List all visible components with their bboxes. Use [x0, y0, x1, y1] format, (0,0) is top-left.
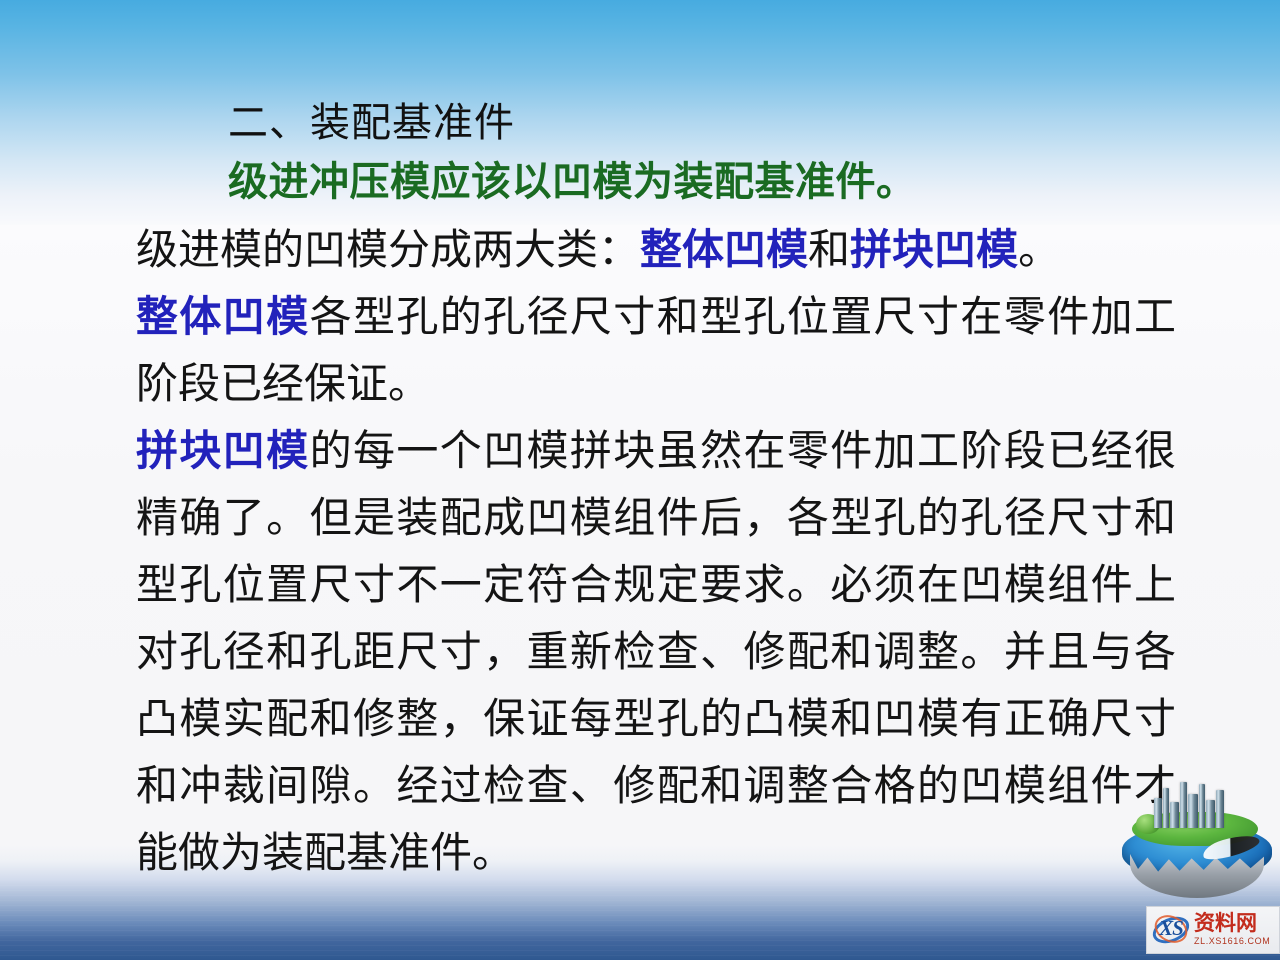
subtitle-statement: 级进冲压模应该以凹模为装配基准件。 [228, 158, 917, 206]
paragraph-sectional-die: 拼块凹模的每一个凹模拼块虽然在零件加工阶段已经很精确了。但是装配成凹模组件后，各… [136, 419, 1176, 888]
text-run-conjunction: 和 [808, 228, 850, 274]
city-island-graphic [1118, 772, 1278, 900]
logo-mark-text: XS [1149, 916, 1193, 941]
building-3 [1170, 802, 1179, 828]
building-8 [1216, 790, 1224, 828]
term-whole-die: 整体凹模 [640, 228, 808, 274]
building-4 [1180, 782, 1187, 828]
term-whole-die-lead: 整体凹模 [136, 295, 310, 341]
term-sectional-die-lead: 拼块凹模 [136, 429, 310, 475]
site-watermark: XS 资料网 ZL.XS1616.COM [1146, 906, 1280, 954]
term-sectional-die: 拼块凹模 [850, 228, 1018, 274]
text-run-sectional-die-body: 的每一个凹模拼块虽然在零件加工阶段已经很精确了。但是装配成凹模组件后，各型孔的孔… [136, 429, 1176, 877]
building-7 [1206, 800, 1215, 828]
building-1 [1154, 798, 1162, 828]
paragraph-whole-die: 整体凹模各型孔的孔径尺寸和型孔位置尺寸在零件加工阶段已经保证。 [136, 285, 1176, 419]
building-6 [1199, 784, 1205, 828]
watermark-site-url: ZL.XS1616.COM [1194, 935, 1279, 947]
body-text-block: 级进模的凹模分成两大类：整体凹模和拼块凹模。 整体凹模各型孔的孔径尺寸和型孔位置… [136, 218, 1176, 888]
paragraph-classification: 级进模的凹模分成两大类：整体凹模和拼块凹模。 [136, 218, 1176, 285]
slide-content: 二、装配基准件 级进冲压模应该以凹模为装配基准件。 级进模的凹模分成两大类：整体… [0, 0, 1280, 960]
text-run-plain: 级进模的凹模分成两大类： [136, 228, 640, 274]
slide-canvas: 二、装配基准件 级进冲压模应该以凹模为装配基准件。 级进模的凹模分成两大类：整体… [0, 0, 1280, 960]
xs-logo-icon: XS [1149, 910, 1193, 950]
building-2 [1163, 788, 1169, 828]
building-5 [1188, 794, 1198, 828]
page-title: 二、装配基准件 [228, 100, 515, 146]
watermark-site-name: 资料网 [1194, 913, 1279, 935]
island-city-skyline [1152, 776, 1228, 828]
text-run-period: 。 [1018, 228, 1060, 274]
